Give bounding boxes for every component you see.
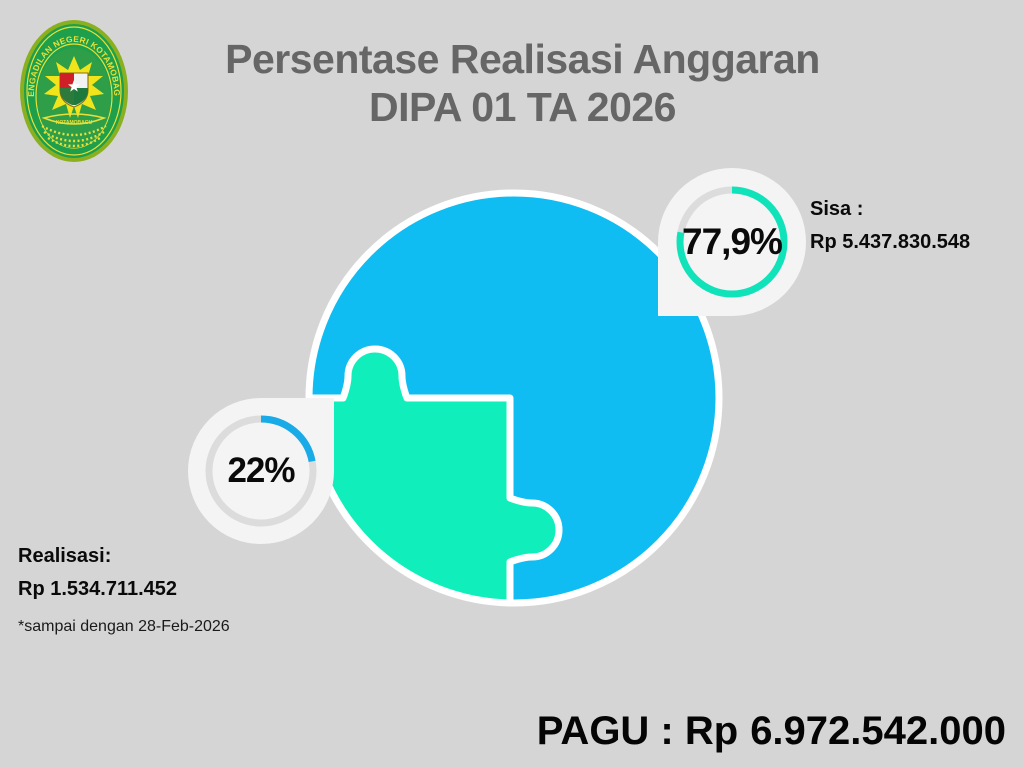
page-title: Persentase Realisasi Anggaran DIPA 01 TA…	[150, 36, 895, 131]
pagu-amount: 6.972.542.000	[750, 709, 1006, 753]
title-line-2: DIPA 01 TA 2026	[150, 84, 895, 132]
pagu-label: PAGU : Rp	[537, 709, 738, 753]
title-line-1: Persentase Realisasi Anggaran	[150, 36, 895, 84]
realisasi-caption: Realisasi: Rp 1.534.711.452	[18, 540, 177, 606]
court-seal-svg: PENGADILAN NEGERI KOTAMOBAGU KOTAMOBAGU	[18, 18, 130, 164]
sisa-caption-line-2: Rp 5.437.830.548	[810, 226, 970, 259]
seal-ribbon-text: KOTAMOBAGU	[56, 120, 93, 126]
badge-sisa-value: 77,9%	[658, 168, 806, 316]
sisa-caption: Sisa : Rp 5.437.830.548	[810, 193, 970, 259]
badge-sisa: 77,9%	[658, 168, 806, 316]
infographic-canvas: PENGADILAN NEGERI KOTAMOBAGU KOTAMOBAGU	[0, 0, 1024, 768]
sisa-caption-line-1: Sisa :	[810, 193, 970, 226]
court-seal-logo: PENGADILAN NEGERI KOTAMOBAGU KOTAMOBAGU	[18, 18, 130, 164]
badge-realisasi-value: 22%	[188, 398, 334, 544]
realisasi-caption-line-1: Realisasi:	[18, 540, 177, 573]
realisasi-note: *sampai dengan 28-Feb-2026	[18, 618, 230, 636]
badge-realisasi: 22%	[188, 398, 334, 544]
realisasi-caption-line-2: Rp 1.534.711.452	[18, 573, 177, 606]
pagu-total: PAGU : Rp6.972.542.000	[537, 709, 1006, 754]
